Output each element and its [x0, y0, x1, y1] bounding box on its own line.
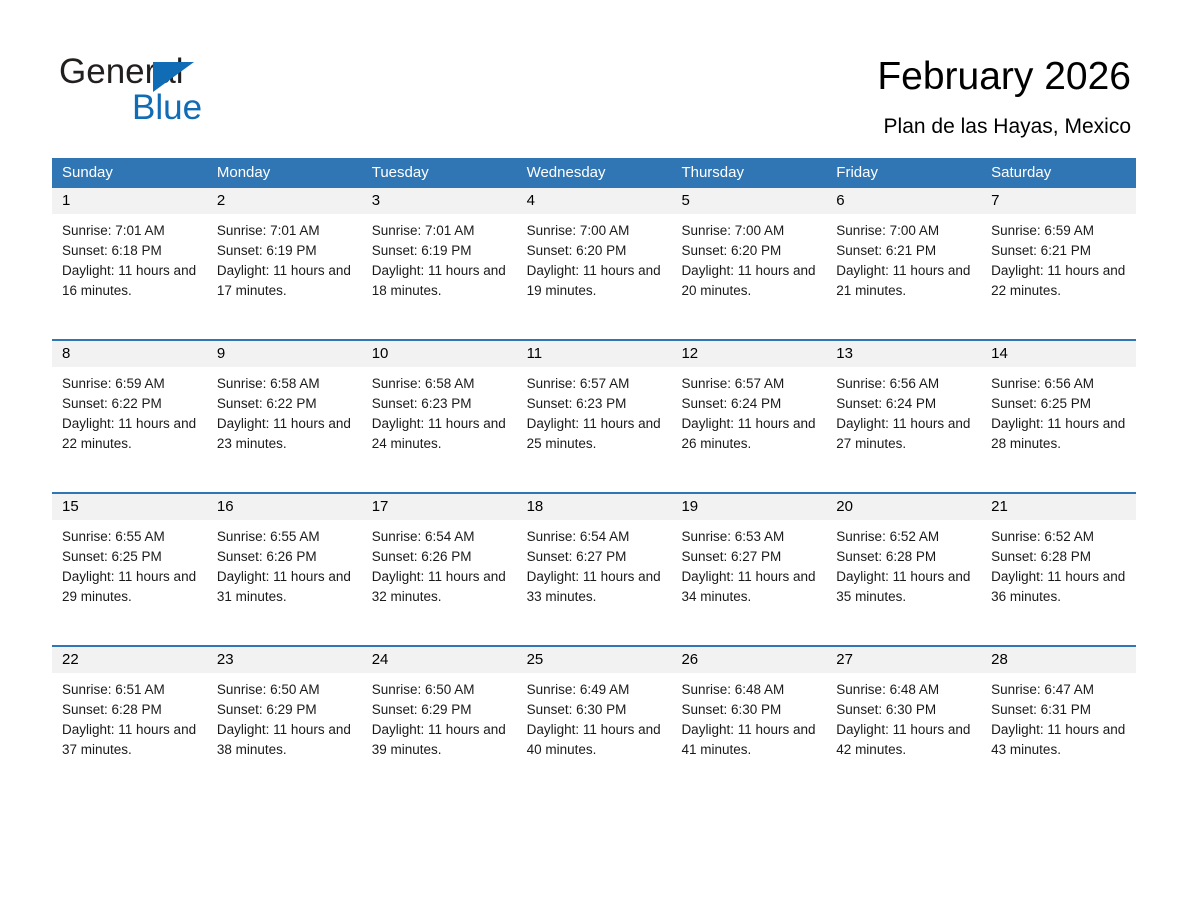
day-details: Sunrise: 7:00 AM Sunset: 6:20 PM Dayligh…	[517, 214, 672, 301]
daylight-text: Daylight: 11 hours and 25 minutes.	[527, 414, 664, 454]
day-details: Sunrise: 7:01 AM Sunset: 6:18 PM Dayligh…	[52, 214, 207, 301]
day-details: Sunrise: 6:56 AM Sunset: 6:25 PM Dayligh…	[981, 367, 1136, 454]
day-details: Sunrise: 6:55 AM Sunset: 6:26 PM Dayligh…	[207, 520, 362, 607]
sunset-text: Sunset: 6:19 PM	[217, 241, 354, 261]
day-number: 11	[517, 341, 672, 367]
week-spacer	[52, 607, 1136, 645]
day-cell[interactable]: 9 Sunrise: 6:58 AM Sunset: 6:22 PM Dayli…	[207, 341, 362, 454]
day-cell[interactable]: 14 Sunrise: 6:56 AM Sunset: 6:25 PM Dayl…	[981, 341, 1136, 454]
day-number-band: 18	[517, 494, 672, 520]
calendar-week-row: 8 Sunrise: 6:59 AM Sunset: 6:22 PM Dayli…	[52, 339, 1136, 492]
day-details: Sunrise: 6:51 AM Sunset: 6:28 PM Dayligh…	[52, 673, 207, 760]
daylight-text: Daylight: 11 hours and 17 minutes.	[217, 261, 354, 301]
day-number: 13	[826, 341, 981, 367]
day-cell[interactable]: 4 Sunrise: 7:00 AM Sunset: 6:20 PM Dayli…	[517, 188, 672, 301]
day-details: Sunrise: 6:59 AM Sunset: 6:22 PM Dayligh…	[52, 367, 207, 454]
daylight-text: Daylight: 11 hours and 34 minutes.	[681, 567, 818, 607]
day-details: Sunrise: 6:50 AM Sunset: 6:29 PM Dayligh…	[207, 673, 362, 760]
day-number: 10	[362, 341, 517, 367]
day-number: 17	[362, 494, 517, 520]
sunset-text: Sunset: 6:21 PM	[991, 241, 1128, 261]
day-number: 15	[52, 494, 207, 520]
day-details: Sunrise: 6:48 AM Sunset: 6:30 PM Dayligh…	[826, 673, 981, 760]
day-cell[interactable]: 11 Sunrise: 6:57 AM Sunset: 6:23 PM Dayl…	[517, 341, 672, 454]
day-number: 21	[981, 494, 1136, 520]
day-number-band: 24	[362, 647, 517, 673]
calendar-table: Sunday Monday Tuesday Wednesday Thursday…	[52, 158, 1136, 798]
day-number-band: 2	[207, 188, 362, 214]
day-cell[interactable]: 26 Sunrise: 6:48 AM Sunset: 6:30 PM Dayl…	[671, 647, 826, 760]
sunset-text: Sunset: 6:23 PM	[527, 394, 664, 414]
page-header: General Blue February 2026 Plan de las H…	[0, 0, 1188, 152]
day-number-band: 4	[517, 188, 672, 214]
daylight-text: Daylight: 11 hours and 39 minutes.	[372, 720, 509, 760]
day-number: 28	[981, 647, 1136, 673]
day-number: 1	[52, 188, 207, 214]
day-cell[interactable]: 18 Sunrise: 6:54 AM Sunset: 6:27 PM Dayl…	[517, 494, 672, 607]
day-number-band: 1	[52, 188, 207, 214]
sunrise-text: Sunrise: 6:59 AM	[991, 221, 1128, 241]
day-number-band: 27	[826, 647, 981, 673]
day-number: 12	[671, 341, 826, 367]
day-number: 7	[981, 188, 1136, 214]
sunset-text: Sunset: 6:22 PM	[62, 394, 199, 414]
daylight-text: Daylight: 11 hours and 31 minutes.	[217, 567, 354, 607]
page-subtitle: Plan de las Hayas, Mexico	[884, 114, 1131, 140]
day-cell[interactable]: 6 Sunrise: 7:00 AM Sunset: 6:21 PM Dayli…	[826, 188, 981, 301]
week-spacer	[52, 454, 1136, 492]
day-number-band: 9	[207, 341, 362, 367]
day-details: Sunrise: 7:00 AM Sunset: 6:21 PM Dayligh…	[826, 214, 981, 301]
daylight-text: Daylight: 11 hours and 41 minutes.	[681, 720, 818, 760]
daylight-text: Daylight: 11 hours and 37 minutes.	[62, 720, 199, 760]
generalblue-logo[interactable]: General Blue	[59, 52, 339, 128]
day-number-band: 12	[671, 341, 826, 367]
daylight-text: Daylight: 11 hours and 42 minutes.	[836, 720, 973, 760]
day-number-band: 3	[362, 188, 517, 214]
sunrise-text: Sunrise: 6:57 AM	[681, 374, 818, 394]
sunrise-text: Sunrise: 6:57 AM	[527, 374, 664, 394]
day-number: 22	[52, 647, 207, 673]
day-details: Sunrise: 6:50 AM Sunset: 6:29 PM Dayligh…	[362, 673, 517, 760]
sunset-text: Sunset: 6:29 PM	[372, 700, 509, 720]
day-cell[interactable]: 22 Sunrise: 6:51 AM Sunset: 6:28 PM Dayl…	[52, 647, 207, 760]
weekday-header-thursday: Thursday	[671, 158, 826, 188]
daylight-text: Daylight: 11 hours and 26 minutes.	[681, 414, 818, 454]
daylight-text: Daylight: 11 hours and 23 minutes.	[217, 414, 354, 454]
day-cell[interactable]: 15 Sunrise: 6:55 AM Sunset: 6:25 PM Dayl…	[52, 494, 207, 607]
sunset-text: Sunset: 6:20 PM	[681, 241, 818, 261]
day-details: Sunrise: 6:53 AM Sunset: 6:27 PM Dayligh…	[671, 520, 826, 607]
sunrise-text: Sunrise: 6:50 AM	[217, 680, 354, 700]
day-number: 18	[517, 494, 672, 520]
day-number: 8	[52, 341, 207, 367]
day-details: Sunrise: 6:49 AM Sunset: 6:30 PM Dayligh…	[517, 673, 672, 760]
day-number-band: 10	[362, 341, 517, 367]
daylight-text: Daylight: 11 hours and 28 minutes.	[991, 414, 1128, 454]
day-number-band: 28	[981, 647, 1136, 673]
day-details: Sunrise: 6:57 AM Sunset: 6:24 PM Dayligh…	[671, 367, 826, 454]
sunset-text: Sunset: 6:25 PM	[991, 394, 1128, 414]
day-number-band: 14	[981, 341, 1136, 367]
sunset-text: Sunset: 6:26 PM	[217, 547, 354, 567]
daylight-text: Daylight: 11 hours and 20 minutes.	[681, 261, 818, 301]
day-number: 4	[517, 188, 672, 214]
calendar-week-row: 22 Sunrise: 6:51 AM Sunset: 6:28 PM Dayl…	[52, 645, 1136, 798]
day-number: 25	[517, 647, 672, 673]
day-number: 19	[671, 494, 826, 520]
day-number: 5	[671, 188, 826, 214]
day-details: Sunrise: 6:58 AM Sunset: 6:22 PM Dayligh…	[207, 367, 362, 454]
daylight-text: Daylight: 11 hours and 29 minutes.	[62, 567, 199, 607]
day-cell[interactable]: 23 Sunrise: 6:50 AM Sunset: 6:29 PM Dayl…	[207, 647, 362, 760]
day-details: Sunrise: 6:48 AM Sunset: 6:30 PM Dayligh…	[671, 673, 826, 760]
sunrise-text: Sunrise: 7:00 AM	[527, 221, 664, 241]
weekday-header-tuesday: Tuesday	[362, 158, 517, 188]
daylight-text: Daylight: 11 hours and 38 minutes.	[217, 720, 354, 760]
weekday-header-saturday: Saturday	[981, 158, 1136, 188]
day-cell[interactable]: 1 Sunrise: 7:01 AM Sunset: 6:18 PM Dayli…	[52, 188, 207, 301]
day-details: Sunrise: 7:00 AM Sunset: 6:20 PM Dayligh…	[671, 214, 826, 301]
day-number-band: 8	[52, 341, 207, 367]
sunrise-text: Sunrise: 6:58 AM	[217, 374, 354, 394]
day-number-band: 6	[826, 188, 981, 214]
day-number: 20	[826, 494, 981, 520]
sunrise-text: Sunrise: 6:54 AM	[372, 527, 509, 547]
sunrise-text: Sunrise: 6:55 AM	[217, 527, 354, 547]
weekday-header-row: Sunday Monday Tuesday Wednesday Thursday…	[52, 158, 1136, 188]
sunrise-text: Sunrise: 6:49 AM	[527, 680, 664, 700]
sunrise-text: Sunrise: 6:55 AM	[62, 527, 199, 547]
day-details: Sunrise: 6:52 AM Sunset: 6:28 PM Dayligh…	[826, 520, 981, 607]
day-details: Sunrise: 6:56 AM Sunset: 6:24 PM Dayligh…	[826, 367, 981, 454]
day-details: Sunrise: 6:57 AM Sunset: 6:23 PM Dayligh…	[517, 367, 672, 454]
sunset-text: Sunset: 6:24 PM	[836, 394, 973, 414]
sunset-text: Sunset: 6:30 PM	[836, 700, 973, 720]
sunset-text: Sunset: 6:18 PM	[62, 241, 199, 261]
sunrise-text: Sunrise: 6:51 AM	[62, 680, 199, 700]
sunrise-text: Sunrise: 6:52 AM	[836, 527, 973, 547]
day-cell[interactable]: 7 Sunrise: 6:59 AM Sunset: 6:21 PM Dayli…	[981, 188, 1136, 301]
day-number-band: 16	[207, 494, 362, 520]
day-cell[interactable]: 24 Sunrise: 6:50 AM Sunset: 6:29 PM Dayl…	[362, 647, 517, 760]
calendar-week-row: 15 Sunrise: 6:55 AM Sunset: 6:25 PM Dayl…	[52, 492, 1136, 645]
day-number-band: 23	[207, 647, 362, 673]
day-details: Sunrise: 6:52 AM Sunset: 6:28 PM Dayligh…	[981, 520, 1136, 607]
sunrise-text: Sunrise: 6:59 AM	[62, 374, 199, 394]
daylight-text: Daylight: 11 hours and 27 minutes.	[836, 414, 973, 454]
day-cell[interactable]: 25 Sunrise: 6:49 AM Sunset: 6:30 PM Dayl…	[517, 647, 672, 760]
day-number: 24	[362, 647, 517, 673]
daylight-text: Daylight: 11 hours and 18 minutes.	[372, 261, 509, 301]
day-details: Sunrise: 7:01 AM Sunset: 6:19 PM Dayligh…	[207, 214, 362, 301]
day-number: 6	[826, 188, 981, 214]
daylight-text: Daylight: 11 hours and 40 minutes.	[527, 720, 664, 760]
day-cell[interactable]: 2 Sunrise: 7:01 AM Sunset: 6:19 PM Dayli…	[207, 188, 362, 301]
sunrise-text: Sunrise: 6:54 AM	[527, 527, 664, 547]
day-cell[interactable]: 20 Sunrise: 6:52 AM Sunset: 6:28 PM Dayl…	[826, 494, 981, 607]
daylight-text: Daylight: 11 hours and 43 minutes.	[991, 720, 1128, 760]
day-number-band: 22	[52, 647, 207, 673]
day-number-band: 7	[981, 188, 1136, 214]
day-number-band: 17	[362, 494, 517, 520]
sunrise-text: Sunrise: 7:01 AM	[62, 221, 199, 241]
page-title: February 2026	[877, 54, 1131, 100]
daylight-text: Daylight: 11 hours and 33 minutes.	[527, 567, 664, 607]
day-number: 23	[207, 647, 362, 673]
daylight-text: Daylight: 11 hours and 24 minutes.	[372, 414, 509, 454]
calendar-week-row: 1 Sunrise: 7:01 AM Sunset: 6:18 PM Dayli…	[52, 188, 1136, 339]
daylight-text: Daylight: 11 hours and 16 minutes.	[62, 261, 199, 301]
day-details: Sunrise: 6:59 AM Sunset: 6:21 PM Dayligh…	[981, 214, 1136, 301]
day-cell[interactable]: 5 Sunrise: 7:00 AM Sunset: 6:20 PM Dayli…	[671, 188, 826, 301]
daylight-text: Daylight: 11 hours and 32 minutes.	[372, 567, 509, 607]
day-number-band: 21	[981, 494, 1136, 520]
week-spacer	[52, 760, 1136, 798]
sunset-text: Sunset: 6:25 PM	[62, 547, 199, 567]
day-cell[interactable]: 28 Sunrise: 6:47 AM Sunset: 6:31 PM Dayl…	[981, 647, 1136, 760]
daylight-text: Daylight: 11 hours and 21 minutes.	[836, 261, 973, 301]
day-cell[interactable]: 19 Sunrise: 6:53 AM Sunset: 6:27 PM Dayl…	[671, 494, 826, 607]
sunset-text: Sunset: 6:26 PM	[372, 547, 509, 567]
sunrise-text: Sunrise: 6:58 AM	[372, 374, 509, 394]
sunrise-text: Sunrise: 6:56 AM	[836, 374, 973, 394]
daylight-text: Daylight: 11 hours and 22 minutes.	[991, 261, 1128, 301]
weekday-header-monday: Monday	[207, 158, 362, 188]
day-number-band: 5	[671, 188, 826, 214]
day-number-band: 11	[517, 341, 672, 367]
sunset-text: Sunset: 6:24 PM	[681, 394, 818, 414]
day-details: Sunrise: 7:01 AM Sunset: 6:19 PM Dayligh…	[362, 214, 517, 301]
day-cell[interactable]: 16 Sunrise: 6:55 AM Sunset: 6:26 PM Dayl…	[207, 494, 362, 607]
daylight-text: Daylight: 11 hours and 19 minutes.	[527, 261, 664, 301]
sunrise-text: Sunrise: 6:48 AM	[681, 680, 818, 700]
sunset-text: Sunset: 6:20 PM	[527, 241, 664, 261]
weekday-header-sunday: Sunday	[52, 158, 207, 188]
weekday-header-friday: Friday	[826, 158, 981, 188]
day-number: 26	[671, 647, 826, 673]
day-number-band: 19	[671, 494, 826, 520]
sunset-text: Sunset: 6:27 PM	[527, 547, 664, 567]
sunrise-text: Sunrise: 7:01 AM	[372, 221, 509, 241]
sunrise-text: Sunrise: 6:50 AM	[372, 680, 509, 700]
sunrise-text: Sunrise: 6:52 AM	[991, 527, 1128, 547]
sunset-text: Sunset: 6:29 PM	[217, 700, 354, 720]
day-number-band: 26	[671, 647, 826, 673]
day-cell[interactable]: 8 Sunrise: 6:59 AM Sunset: 6:22 PM Dayli…	[52, 341, 207, 454]
sunrise-text: Sunrise: 6:53 AM	[681, 527, 818, 547]
sunset-text: Sunset: 6:28 PM	[991, 547, 1128, 567]
day-details: Sunrise: 6:54 AM Sunset: 6:26 PM Dayligh…	[362, 520, 517, 607]
day-number-band: 13	[826, 341, 981, 367]
sunset-text: Sunset: 6:28 PM	[62, 700, 199, 720]
day-number-band: 15	[52, 494, 207, 520]
sunrise-text: Sunrise: 6:47 AM	[991, 680, 1128, 700]
day-cell[interactable]: 10 Sunrise: 6:58 AM Sunset: 6:23 PM Dayl…	[362, 341, 517, 454]
sunset-text: Sunset: 6:30 PM	[527, 700, 664, 720]
sunrise-text: Sunrise: 6:56 AM	[991, 374, 1128, 394]
sunset-text: Sunset: 6:21 PM	[836, 241, 973, 261]
daylight-text: Daylight: 11 hours and 22 minutes.	[62, 414, 199, 454]
sunrise-text: Sunrise: 7:00 AM	[681, 221, 818, 241]
daylight-text: Daylight: 11 hours and 35 minutes.	[836, 567, 973, 607]
day-number: 14	[981, 341, 1136, 367]
day-cell[interactable]: 3 Sunrise: 7:01 AM Sunset: 6:19 PM Dayli…	[362, 188, 517, 301]
sunset-text: Sunset: 6:22 PM	[217, 394, 354, 414]
day-cell[interactable]: 12 Sunrise: 6:57 AM Sunset: 6:24 PM Dayl…	[671, 341, 826, 454]
daylight-text: Daylight: 11 hours and 36 minutes.	[991, 567, 1128, 607]
sunrise-text: Sunrise: 7:01 AM	[217, 221, 354, 241]
sunset-text: Sunset: 6:28 PM	[836, 547, 973, 567]
day-number: 27	[826, 647, 981, 673]
day-number: 16	[207, 494, 362, 520]
day-details: Sunrise: 6:58 AM Sunset: 6:23 PM Dayligh…	[362, 367, 517, 454]
sunrise-text: Sunrise: 7:00 AM	[836, 221, 973, 241]
weekday-header-wednesday: Wednesday	[517, 158, 672, 188]
day-number: 9	[207, 341, 362, 367]
sunset-text: Sunset: 6:23 PM	[372, 394, 509, 414]
day-number: 3	[362, 188, 517, 214]
day-cell[interactable]: 17 Sunrise: 6:54 AM Sunset: 6:26 PM Dayl…	[362, 494, 517, 607]
logo-text-blue: Blue	[132, 88, 202, 128]
day-number: 2	[207, 188, 362, 214]
calendar-page: General Blue February 2026 Plan de las H…	[0, 0, 1188, 918]
sunset-text: Sunset: 6:30 PM	[681, 700, 818, 720]
sunrise-text: Sunrise: 6:48 AM	[836, 680, 973, 700]
day-details: Sunrise: 6:55 AM Sunset: 6:25 PM Dayligh…	[52, 520, 207, 607]
day-cell[interactable]: 27 Sunrise: 6:48 AM Sunset: 6:30 PM Dayl…	[826, 647, 981, 760]
sunset-text: Sunset: 6:19 PM	[372, 241, 509, 261]
day-details: Sunrise: 6:47 AM Sunset: 6:31 PM Dayligh…	[981, 673, 1136, 760]
day-number-band: 20	[826, 494, 981, 520]
day-number-band: 25	[517, 647, 672, 673]
sunset-text: Sunset: 6:27 PM	[681, 547, 818, 567]
sunset-text: Sunset: 6:31 PM	[991, 700, 1128, 720]
day-details: Sunrise: 6:54 AM Sunset: 6:27 PM Dayligh…	[517, 520, 672, 607]
day-cell[interactable]: 13 Sunrise: 6:56 AM Sunset: 6:24 PM Dayl…	[826, 341, 981, 454]
week-spacer	[52, 301, 1136, 339]
day-cell[interactable]: 21 Sunrise: 6:52 AM Sunset: 6:28 PM Dayl…	[981, 494, 1136, 607]
